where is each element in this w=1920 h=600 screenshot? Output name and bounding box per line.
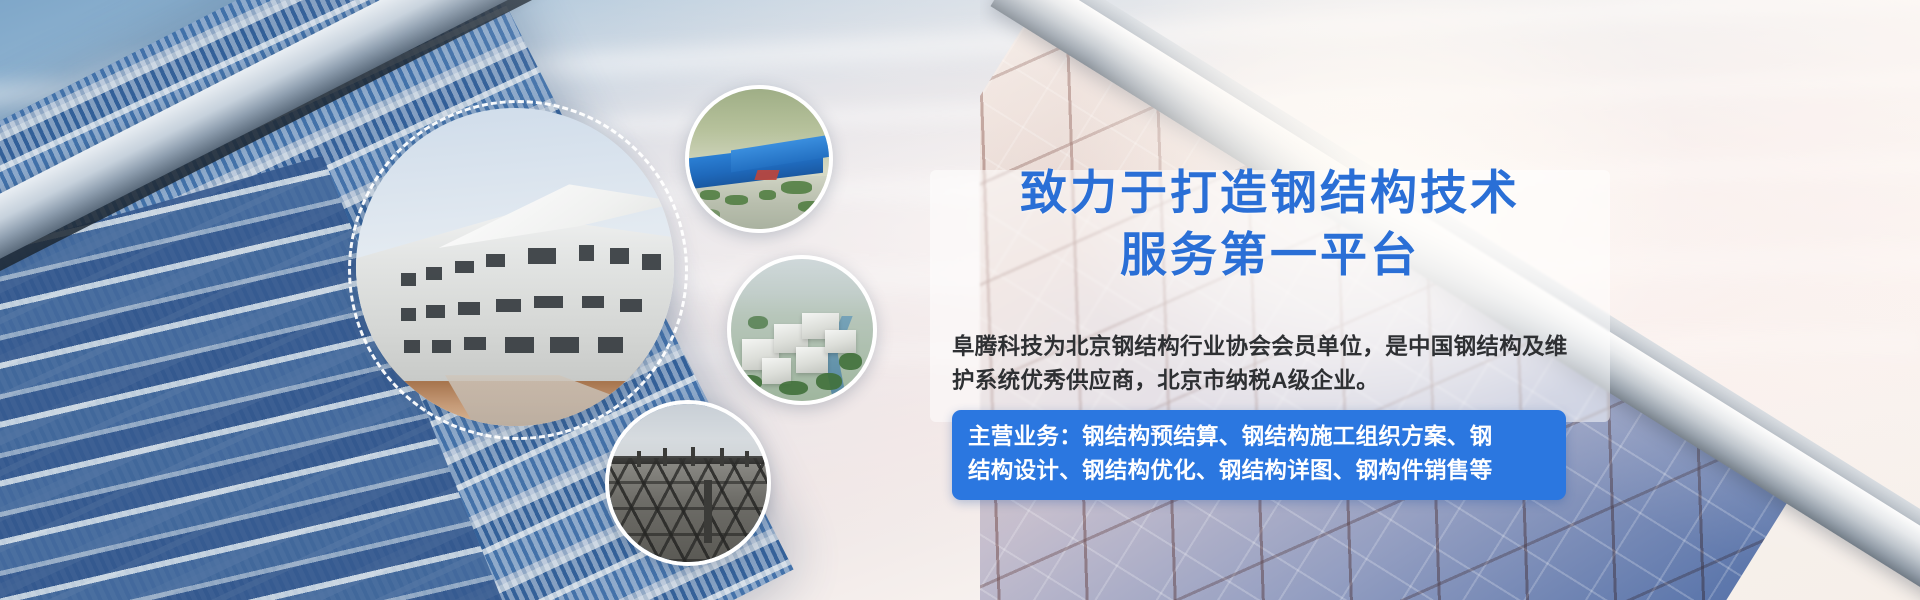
dashed-ring-decoration xyxy=(348,100,688,440)
photo-circle-aerial-blue-roof-plant xyxy=(685,85,833,233)
business-line-1: 主营业务：钢结构预结算、钢结构施工组织方案、钢 xyxy=(968,420,1550,454)
business-line-2: 结构设计、钢结构优化、钢结构详图、钢构件销售等 xyxy=(968,454,1550,488)
company-description: 阜腾科技为北京钢结构行业协会会员单位，是中国钢结构及维护系统优秀供应商，北京市纳… xyxy=(952,330,1584,398)
headline-line-2: 服务第一平台 xyxy=(960,225,1580,287)
headline-line-1: 致力于打造钢结构技术 xyxy=(1020,168,1520,220)
page-title: 致力于打造钢结构技术 服务第一平台 xyxy=(960,163,1580,287)
circular-photo-cluster xyxy=(0,0,900,600)
photo-circle-steel-truss-roof xyxy=(605,400,771,566)
hero-banner: 致力于打造钢结构技术 服务第一平台 阜腾科技为北京钢结构行业协会会员单位，是中国… xyxy=(0,0,1920,600)
main-business-badge: 主营业务：钢结构预结算、钢结构施工组织方案、钢 结构设计、钢结构优化、钢结构详图… xyxy=(952,410,1566,500)
photo-circle-campus-river-park xyxy=(727,255,877,405)
